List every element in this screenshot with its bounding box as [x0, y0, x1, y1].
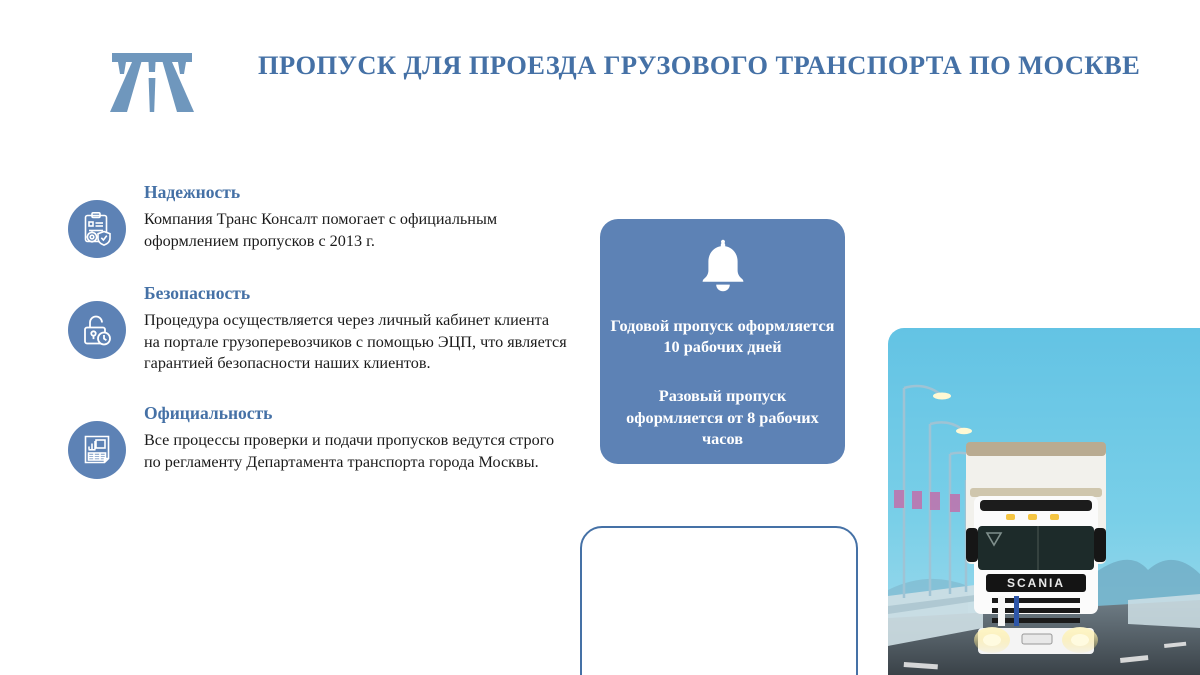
- feature-item-official: Официальность Все процессы проверки и по…: [68, 403, 568, 474]
- feature-text: Компания Транс Консалт помогает с официа…: [144, 209, 568, 253]
- feature-item-security: Безопасность Процедура осуществляется че…: [68, 283, 568, 376]
- feature-heading: Надежность: [144, 182, 568, 203]
- slide-root: ПРОПУСК ДЛЯ ПРОЕЗДА ГРУЗОВОГО ТРАНСПОРТА…: [0, 0, 1200, 675]
- feature-body: Официальность Все процессы проверки и по…: [144, 403, 568, 474]
- processing-time-card: Годовой пропуск оформляется 10 рабочих д…: [600, 219, 845, 464]
- single-pass-text: Разовый пропуск оформляется от 8 рабочих…: [610, 385, 835, 449]
- svg-text:SCANIA: SCANIA: [1007, 576, 1065, 590]
- empty-outlined-box: [580, 526, 858, 675]
- page-title: ПРОПУСК ДЛЯ ПРОЕЗДА ГРУЗОВОГО ТРАНСПОРТА…: [258, 50, 1078, 80]
- feature-list: Надежность Компания Транс Консалт помога…: [68, 182, 568, 500]
- truck-on-bridge-photo: SCANIA: [888, 328, 1200, 675]
- document-chart-icon: [68, 421, 126, 479]
- highway-autobahn-icon: [96, 20, 208, 120]
- feature-heading: Безопасность: [144, 283, 568, 304]
- feature-body: Безопасность Процедура осуществляется че…: [144, 283, 568, 376]
- feature-heading: Официальность: [144, 403, 568, 424]
- annual-pass-text: Годовой пропуск оформляется 10 рабочих д…: [610, 315, 835, 357]
- feature-text: Все процессы проверки и подачи пропусков…: [144, 430, 568, 474]
- feature-text: Процедура осуществляется через личный ка…: [144, 310, 568, 376]
- feature-item-reliability: Надежность Компания Транс Консалт помога…: [68, 182, 568, 253]
- feature-body: Надежность Компания Транс Консалт помога…: [144, 182, 568, 253]
- padlock-clock-icon: [68, 301, 126, 359]
- bell-icon: [697, 239, 749, 295]
- clipboard-gear-shield-icon: [68, 200, 126, 258]
